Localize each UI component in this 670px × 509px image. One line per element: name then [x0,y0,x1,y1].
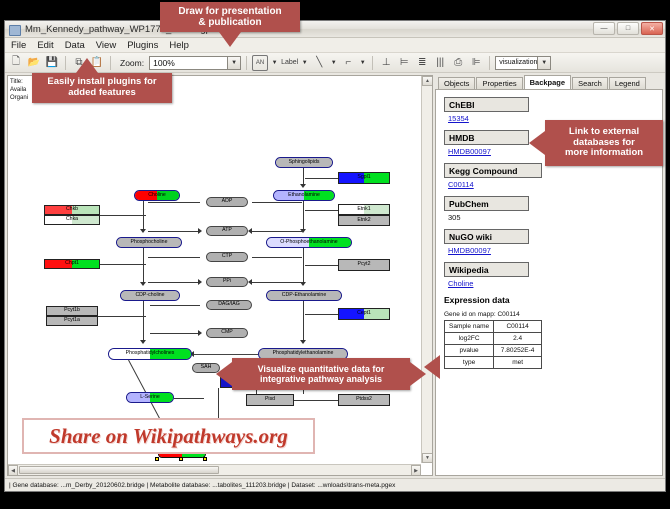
callout-plugins-arrow [76,58,98,73]
tab-search[interactable]: Search [572,77,608,89]
metabolite-node[interactable]: Ethanolamine [273,190,335,201]
scroll-up-icon[interactable]: ▲ [422,76,433,86]
zoom-combo[interactable]: 100% ▼ [149,56,241,70]
zoom-value: 100% [153,58,175,68]
datanode-icon[interactable]: AN [252,55,268,71]
gene-node[interactable]: Etnk2 [338,215,390,226]
table-row: Sample name C00114 [445,321,542,333]
pathway-canvas[interactable]: Title: Availa Organi [7,75,433,476]
node-label: Etnk1 [357,207,370,212]
callout-visualize-arrow-left [216,362,232,386]
new-file-icon[interactable]: 🗋 [8,55,24,71]
metabolite-node[interactable]: Sphingolipids [275,157,333,168]
status-bar-text: | Gene database: ...m_Derby_20120602.bri… [9,482,395,489]
datanode-dropdown-icon[interactable]: ▼ [270,60,279,66]
tab-objects[interactable]: Objects [438,77,475,89]
node-label: PPi [223,279,231,284]
share-label: Share on Wikipathways.org [49,424,288,449]
tab-backpage[interactable]: Backpage [524,75,571,89]
distribute-icon[interactable]: ||| [432,55,448,71]
node-label: Choline [148,193,166,198]
table-row: log2FC 2.4 [445,333,542,345]
db-link-wikipedia[interactable]: Choline [448,279,662,288]
gene-node[interactable]: Sgpl1 [338,172,390,184]
node-label: Pcyt2 [358,262,371,267]
cofactor-node[interactable]: CMP [206,328,248,338]
table-row: pvalue 7.80252E-4 [445,345,542,357]
maximize-button[interactable]: □ [617,22,639,35]
selection-handle[interactable] [203,457,207,461]
node-label: Sgpl1 [357,175,370,180]
node-label: CDP-choline [135,293,164,298]
align-left-icon[interactable]: ⊨ [396,55,412,71]
node-label: CTP [222,254,232,259]
gene-node[interactable]: Pcyt2 [338,259,390,271]
toolbar-separator [246,56,247,70]
db-header-nugo-wiki: NuGO wiki [444,229,529,244]
cofactor-node[interactable]: PPi [206,277,248,287]
cofactor-node[interactable]: DAG/IAG [206,300,252,310]
zoom-label: Zoom: [120,58,144,68]
node-label: Pisd [265,397,275,402]
scroll-right-icon[interactable]: ▶ [411,465,421,476]
node-label: Phosphatidylethanolamine [273,351,334,356]
callout-expression-arrow [424,355,440,379]
cofactor-node[interactable]: CTP [206,252,248,262]
menu-item-edit[interactable]: Edit [37,40,53,51]
shape-dropdown-icon[interactable]: ▼ [358,60,367,66]
scroll-down-icon[interactable]: ▼ [422,453,433,463]
screen-root: Mm_Kennedy_pathway_WP1771_45176.gpml — □… [0,0,670,509]
window-controls: — □ ✕ [593,22,663,35]
node-label: O-Phosphoethanolamine [280,240,337,245]
tab-legend[interactable]: Legend [609,77,646,89]
metabolite-node[interactable]: Choline [134,190,180,201]
group-icon[interactable]: ⊫ [468,55,484,71]
gene-node[interactable]: Cept1 [338,308,390,320]
cofactor-node[interactable]: ADP [206,197,248,207]
toolbar-separator [489,56,490,70]
db-header-wikipedia: Wikipedia [444,262,529,277]
save-icon[interactable]: 💾 [44,55,60,71]
gene-node[interactable]: Pcyt1b [46,306,98,316]
close-button[interactable]: ✕ [641,22,663,35]
gene-node[interactable]: Ptdss2 [338,394,390,406]
callout-plugins: Easily install plugins for added feature… [32,73,172,103]
side-panel-tabs: Objects Properties Backpage Search Legen… [435,75,663,89]
node-label: Pcyt1a [64,318,80,323]
menu-item-plugins[interactable]: Plugins [127,40,158,51]
metabolite-node[interactable]: CDP-choline [120,290,180,301]
shape-connector-icon[interactable]: ⌐ [340,55,356,71]
node-label: Chpt1 [65,261,79,266]
toolbar: 🗋 📂 💾 ⧉ 📋 Zoom: 100% ▼ AN ▼ Label ▼ ╲ ▼ … [5,53,665,73]
menu-item-view[interactable]: View [96,40,116,51]
callout-visualize: Visualize quantitative data for integrat… [232,358,410,390]
toolbar-separator [65,56,66,70]
selection-handle[interactable] [155,457,159,461]
node-label: Sphingolipids [289,160,320,165]
gene-node[interactable]: Pcyt1a [46,316,98,326]
toolbar-separator [372,56,373,70]
table-cell-value: 7.80252E-4 [494,345,542,357]
label-tool-label[interactable]: Label [281,59,298,66]
table-cell-value: 2.4 [494,333,542,345]
table-cell-key: log2FC [445,333,494,345]
gene-id-label: Gene id on mapp: C00114 [444,311,662,318]
minimize-button[interactable]: — [593,22,615,35]
callout-share: Share on Wikipathways.org [22,418,315,454]
align-icon[interactable]: ⊥ [378,55,394,71]
db-header-chebi: ChEBI [444,97,529,112]
canvas-horizontal-scrollbar[interactable]: ◀ ▶ [8,464,421,475]
gene-node[interactable]: Chpt1 [44,259,100,269]
tab-properties[interactable]: Properties [476,77,522,89]
canvas-vertical-scrollbar[interactable]: ▲ ▼ [421,76,432,463]
toolbar-separator [110,56,111,70]
node-label: Pcyt1b [64,308,80,313]
menu-item-file[interactable]: File [11,40,26,51]
node-label: Ptdss2 [356,397,372,402]
pathway-available-label: Availa [10,86,28,94]
expression-table: Sample name C00114 log2FC 2.4 pvalue 7.8… [444,320,542,369]
stack-rows-icon[interactable]: ≣ [414,55,430,71]
menu-item-data[interactable]: Data [65,40,85,51]
callout-link: Link to external databases for more info… [545,120,663,166]
print-icon[interactable]: ⎙ [450,55,466,71]
status-bar: | Gene database: ...m_Derby_20120602.bri… [5,478,665,491]
cofactor-node[interactable]: ATP [206,226,248,236]
horizontal-scroll-thumb[interactable] [19,466,219,474]
selection-handle[interactable] [179,457,183,461]
line-dropdown-icon[interactable]: ▼ [329,60,338,66]
node-label: ATP [222,228,232,233]
table-row: type met [445,357,542,369]
menu-item-help[interactable]: Help [169,40,189,51]
gene-node[interactable]: Chka [44,215,100,225]
node-label: ADP [222,199,233,204]
metabolite-node[interactable]: Phosphatidylcholines [108,348,192,360]
chevron-down-icon[interactable]: ▼ [227,57,240,69]
gene-node[interactable]: Etnk1 [338,204,390,215]
node-label: Ethanolamine [288,193,320,198]
table-cell-value: met [494,357,542,369]
callout-link-arrow [529,131,545,155]
pathvisio-icon [9,24,20,35]
metabolite-node[interactable]: CDP-Ethanolamine [266,290,342,301]
db-header-pubchem: PubChem [444,196,529,211]
pathway-info-labels: Title: Availa Organi [10,78,28,102]
pathway-title-label: Title: [10,78,28,86]
scroll-left-icon[interactable]: ◀ [8,465,18,476]
node-label: Chkb [66,207,78,212]
db-link-kegg[interactable]: C00114 [448,180,662,189]
pathway-organism-label: Organi [10,94,28,102]
node-label: L-Serine [140,395,160,400]
table-cell-value: C00114 [494,321,542,333]
window-titlebar: Mm_Kennedy_pathway_WP1771_45176.gpml — □… [5,21,665,38]
db-value-pubchem: 305 [448,213,662,222]
db-link-nugo-wiki[interactable]: HMDB00097 [448,246,662,255]
chevron-down-icon[interactable]: ▼ [537,57,550,69]
table-cell-key: type [445,357,494,369]
expression-data-title: Expression data [444,295,662,305]
metabolite-node[interactable]: L-Serine [126,392,174,403]
metabolite-node[interactable]: O-Phosphoethanolamine [266,237,352,248]
open-folder-icon[interactable]: 📂 [26,55,42,71]
table-cell-key: Sample name [445,321,494,333]
callout-draw: Draw for presentation & publication [160,2,300,32]
table-cell-key: pvalue [445,345,494,357]
node-label: CDP-Ethanolamine [282,293,326,298]
node-label: SAH [201,365,212,370]
gene-node[interactable]: Pisd [246,394,294,406]
db-header-hmdb: HMDB [444,130,529,145]
gene-node[interactable]: Chkb [44,205,100,215]
visualization-combo[interactable]: visualization ▼ [495,56,551,70]
node-label: Cept1 [357,311,371,316]
node-label: DAG/IAG [218,302,240,307]
node-label: CMP [221,330,233,335]
node-label: Phosphatidylcholines [126,351,175,356]
label-dropdown-icon[interactable]: ▼ [300,60,309,66]
menubar: File Edit Data View Plugins Help [5,38,665,53]
node-label: Phosphocholine [131,240,168,245]
visualization-value: visualization [499,59,537,66]
line-icon[interactable]: ╲ [311,55,327,71]
metabolite-node[interactable]: Phosphocholine [116,237,182,248]
node-label: Chka [66,217,78,222]
callout-draw-arrow [219,32,241,47]
node-label: Etnk2 [357,218,370,223]
db-header-kegg: Kegg Compound [444,163,542,178]
